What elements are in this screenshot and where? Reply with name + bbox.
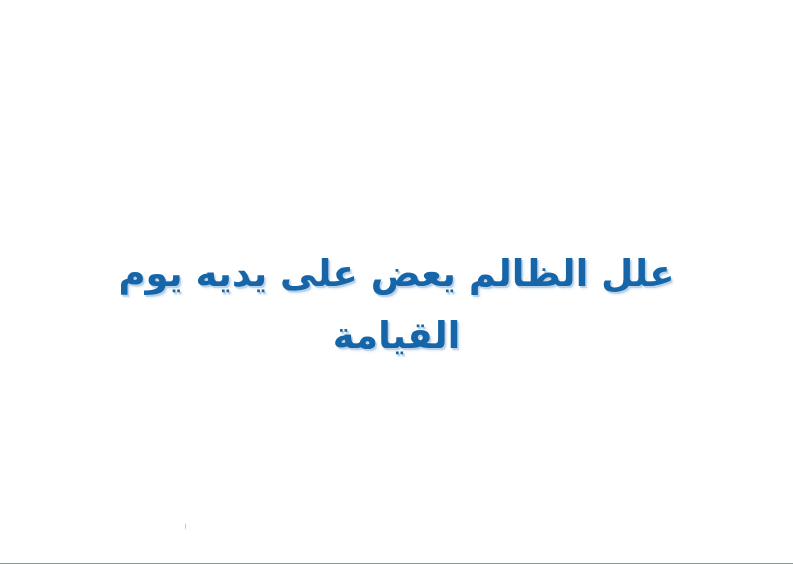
page-canvas: علل الظالم يعض على يديه يوم القيامة موسو… <box>0 0 793 564</box>
page-title-line-1: علل الظالم يعض على يديه يوم <box>0 243 793 305</box>
site-watermark-logo: موسوعة <box>14 469 186 551</box>
site-watermark-logo-icon: موسوعة <box>14 469 186 551</box>
site-watermark-logo-outline: موسوعة <box>182 477 186 550</box>
page-title: علل الظالم يعض على يديه يوم القيامة <box>0 243 793 367</box>
page-title-line-2: القيامة <box>0 305 793 367</box>
